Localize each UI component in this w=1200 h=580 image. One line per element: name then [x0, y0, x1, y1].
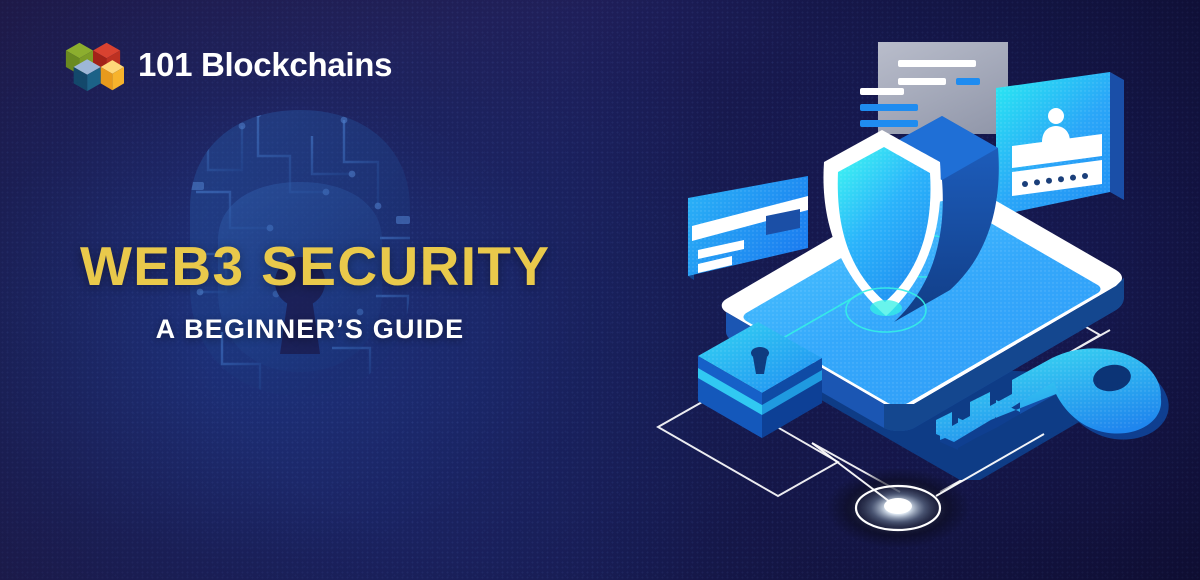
login-card-icon: [996, 72, 1124, 216]
brand-logo[interactable]: 101 Blockchains: [62, 34, 392, 96]
hero-text-block: WEB3 SECURITY A BEGINNER’S GUIDE: [80, 238, 550, 345]
page-subtitle: A BEGINNER’S GUIDE: [80, 314, 540, 345]
four-cubes-logo-icon: [62, 34, 124, 96]
page-title: WEB3 SECURITY: [80, 238, 550, 294]
brand-name: 101 Blockchains: [138, 46, 392, 84]
network-node-icon: [826, 468, 970, 548]
security-illustration: [640, 30, 1200, 580]
web3-security-banner: 101 Blockchains WEB3 SECURITY A BEGINNER…: [0, 0, 1200, 580]
